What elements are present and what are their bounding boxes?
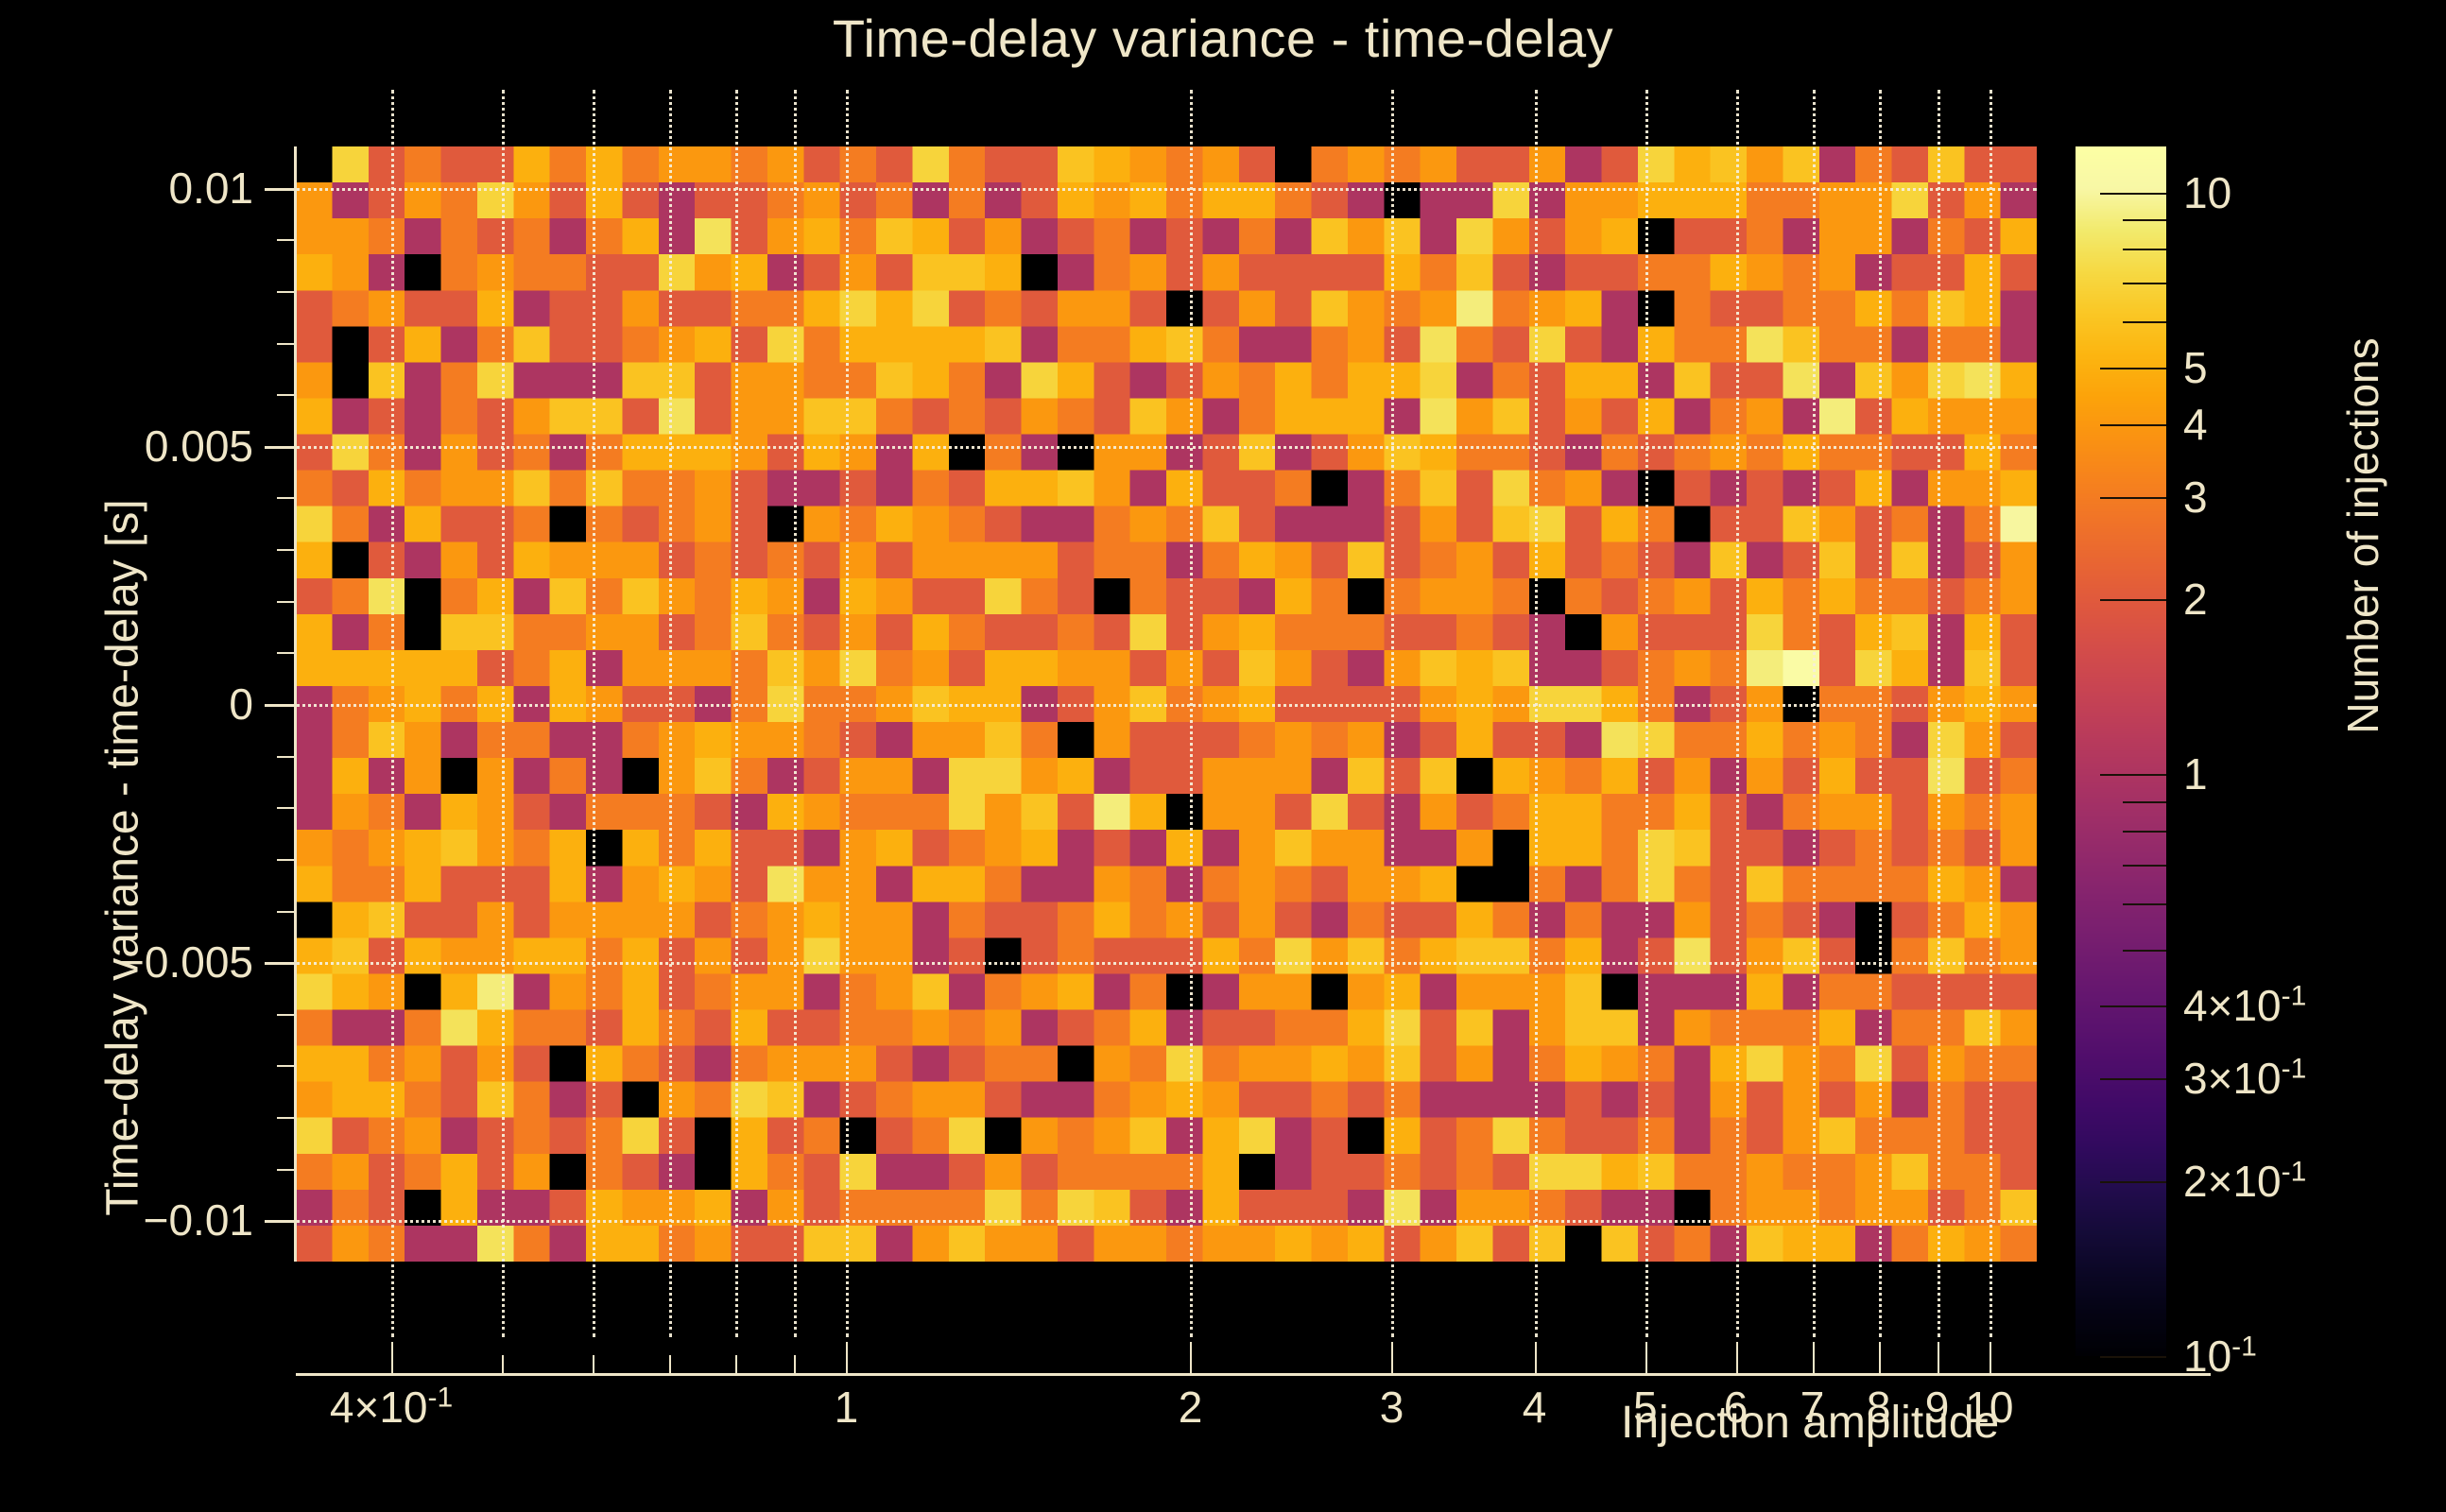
y-axis-tick-label: 0.01 — [0, 163, 253, 214]
colorbar-tick-label: 3×10-1 — [2183, 1053, 2306, 1104]
x-axis-title: Injection amplitude — [1621, 1397, 1999, 1449]
colorbar-major-tick — [2100, 1356, 2166, 1358]
colorbar-tick-label: 2 — [2183, 574, 2208, 625]
colorbar-major-tick — [2100, 774, 2166, 776]
colorbar-minor-tick — [2123, 283, 2166, 284]
colorbar-major-tick — [2100, 1005, 2166, 1007]
colorbar — [2076, 146, 2166, 1356]
colorbar-major-tick — [2100, 599, 2166, 601]
colorbar-tick-label: 3 — [2183, 472, 2208, 523]
colorbar-minor-tick — [2123, 219, 2166, 221]
colorbar-tick-label: 10 — [2183, 167, 2231, 218]
y-axis-title-wrap: Time-delay variance - time-delay [s] — [57, 142, 113, 1257]
colorbar-major-tick — [2100, 497, 2166, 499]
y-axis-title: Time-delay variance - time-delay [s] — [97, 301, 149, 1416]
colorbar-major-tick — [2100, 424, 2166, 426]
colorbar-major-tick — [2100, 1078, 2166, 1080]
colorbar-minor-tick — [2123, 321, 2166, 323]
colorbar-tick-label: 1 — [2183, 748, 2208, 799]
colorbar-gradient — [2076, 146, 2166, 1356]
colorbar-tick-label: 10-1 — [2183, 1331, 2257, 1382]
colorbar-minor-tick — [2123, 865, 2166, 867]
colorbar-tick-label: 4 — [2183, 399, 2208, 450]
colorbar-minor-tick — [2123, 249, 2166, 250]
colorbar-tick-label: 2×10-1 — [2183, 1156, 2306, 1207]
colorbar-major-tick — [2100, 1181, 2166, 1183]
colorbar-title: Number of injections — [2337, 158, 2388, 914]
colorbar-major-tick — [2100, 193, 2166, 195]
colorbar-minor-tick — [2123, 801, 2166, 803]
colorbar-tick-label: 5 — [2183, 342, 2208, 393]
colorbar-tick-label: 4×10-1 — [2183, 980, 2306, 1031]
colorbar-major-tick — [2100, 368, 2166, 369]
colorbar-title-wrap: Number of injections — [2334, 142, 2391, 898]
chart-canvas: Time-delay variance - time-delay 4×10-11… — [0, 0, 2446, 1512]
colorbar-minor-tick — [2123, 950, 2166, 952]
colorbar-minor-tick — [2123, 903, 2166, 905]
colorbar-minor-tick — [2123, 831, 2166, 833]
